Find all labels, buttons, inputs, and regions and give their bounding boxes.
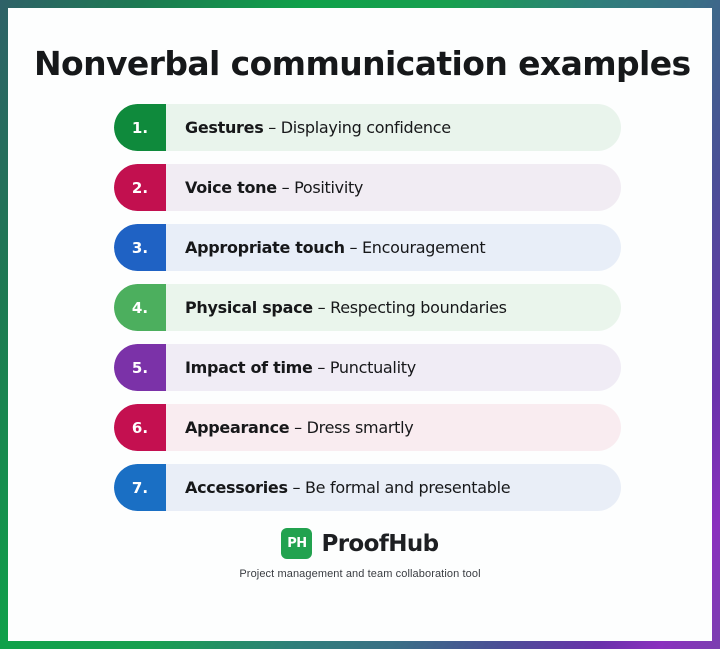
brand-logo: PH ProofHub (8, 528, 712, 559)
item-dash: – (294, 418, 302, 437)
item-term: Appearance (185, 418, 289, 437)
item-number: 3. (132, 239, 148, 257)
list-item: 3. Appropriate touch – Encouragement (114, 224, 621, 271)
item-text: Physical space – Respecting boundaries (166, 298, 621, 317)
item-term: Appropriate touch (185, 238, 345, 257)
item-number: 6. (132, 419, 148, 437)
list-item: 7. Accessories – Be formal and presentab… (114, 464, 621, 511)
item-number: 2. (132, 179, 148, 197)
poster-card: Nonverbal communication examples 1. Gest… (8, 8, 712, 641)
item-description: Encouragement (362, 238, 485, 257)
item-description: Punctuality (330, 358, 416, 377)
brand-tagline: Project management and team collaboratio… (8, 568, 712, 580)
item-number: 1. (132, 119, 148, 137)
item-description: Displaying confidence (281, 118, 451, 137)
item-number: 5. (132, 359, 148, 377)
list-item: 5. Impact of time – Punctuality (114, 344, 621, 391)
item-number-badge: 5. (114, 344, 166, 391)
list-item: 6. Appearance – Dress smartly (114, 404, 621, 451)
item-number: 4. (132, 299, 148, 317)
item-number-badge: 4. (114, 284, 166, 331)
item-term: Physical space (185, 298, 313, 317)
item-description: Dress smartly (307, 418, 414, 437)
item-text: Voice tone – Positivity (166, 178, 621, 197)
item-description: Be formal and presentable (305, 478, 510, 497)
item-text: Appropriate touch – Encouragement (166, 238, 621, 257)
item-term: Voice tone (185, 178, 277, 197)
item-text: Accessories – Be formal and presentable (166, 478, 621, 497)
item-number-badge: 7. (114, 464, 166, 511)
item-text: Gestures – Displaying confidence (166, 118, 621, 137)
item-term: Accessories (185, 478, 288, 497)
item-number-badge: 1. (114, 104, 166, 151)
examples-list: 1. Gestures – Displaying confidence 2. V… (8, 82, 712, 511)
item-number-badge: 3. (114, 224, 166, 271)
item-number: 7. (132, 479, 148, 497)
brand-name: ProofHub (321, 531, 438, 557)
list-item: 1. Gestures – Displaying confidence (114, 104, 621, 151)
item-term: Impact of time (185, 358, 313, 377)
item-term: Gestures (185, 118, 263, 137)
infographic-poster: Nonverbal communication examples 1. Gest… (0, 0, 720, 649)
proofhub-logo-icon: PH (281, 528, 312, 559)
item-dash: – (268, 118, 276, 137)
page-title: Nonverbal communication examples (8, 8, 712, 82)
item-description: Positivity (294, 178, 363, 197)
item-number-badge: 6. (114, 404, 166, 451)
item-text: Impact of time – Punctuality (166, 358, 621, 377)
list-item: 2. Voice tone – Positivity (114, 164, 621, 211)
list-item: 4. Physical space – Respecting boundarie… (114, 284, 621, 331)
item-number-badge: 2. (114, 164, 166, 211)
footer: PH ProofHub Project management and team … (8, 528, 712, 580)
item-text: Appearance – Dress smartly (166, 418, 621, 437)
item-description: Respecting boundaries (330, 298, 507, 317)
item-dash: – (317, 358, 325, 377)
